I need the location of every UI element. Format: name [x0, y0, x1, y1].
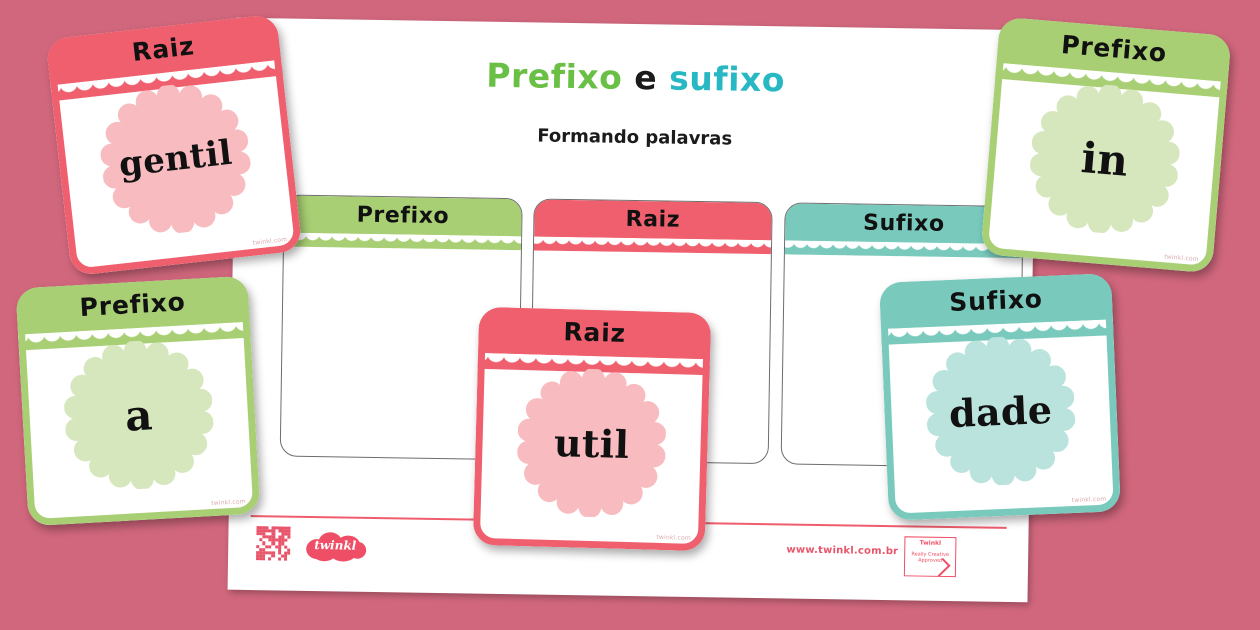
stamp-top-text: Twinkl — [905, 539, 955, 547]
card-watermark: twinkl.com — [656, 534, 691, 542]
word-card-gentil[interactable]: Raizgentiltwinkl.com — [45, 14, 302, 276]
title-prefixo: Prefixo — [486, 56, 623, 97]
word-card-category-label: Raiz — [478, 315, 711, 350]
page-title: Prefixo e sufixo — [235, 52, 1036, 104]
word-text: dade — [948, 387, 1053, 436]
word-badge: in — [1025, 79, 1185, 239]
site-url: www.twinkl.com.br — [786, 544, 898, 557]
word-badge: gentil — [94, 77, 258, 241]
drop-zone-prefixo-label: Prefixo — [284, 202, 521, 231]
worksheet-canvas: Prefixo e sufixo Formando palavras Prefi… — [0, 0, 1260, 630]
title-sufixo: sufixo — [669, 59, 785, 100]
word-card-category-label: Prefixo — [16, 284, 249, 326]
word-badge: util — [516, 367, 668, 519]
word-text: util — [553, 420, 629, 467]
scallop-edge-icon — [280, 232, 523, 250]
word-text: in — [1079, 133, 1130, 186]
title-conjunction: e — [634, 58, 658, 97]
drop-zone-raiz-label: Raiz — [534, 205, 771, 234]
approval-stamp-icon: Twinkl Really CreativeApproved — [904, 536, 957, 577]
word-card-category-label: Sufixo — [879, 281, 1112, 320]
page-subtitle: Formando palavras — [235, 121, 1035, 155]
card-watermark: twinkl.com — [211, 498, 246, 507]
card-watermark: twinkl.com — [1072, 496, 1107, 504]
card-watermark: twinkl.com — [252, 236, 287, 247]
twinkl-logo: twinkl — [304, 531, 366, 562]
scallop-edge-icon — [530, 236, 773, 254]
word-card-in[interactable]: Prefixointwinkl.com — [980, 17, 1231, 274]
word-card-dade[interactable]: Sufixodadetwinkl.com — [879, 273, 1121, 521]
qr-code-icon — [256, 526, 291, 561]
word-badge: a — [61, 337, 217, 493]
word-card-util[interactable]: Raizutiltwinkl.com — [473, 307, 712, 551]
twinkl-wordmark: twinkl — [304, 538, 366, 553]
word-badge: dade — [924, 334, 1078, 488]
card-watermark: twinkl.com — [1164, 253, 1199, 263]
word-card-a[interactable]: Prefixoatwinkl.com — [16, 276, 261, 527]
word-text: a — [124, 390, 154, 440]
